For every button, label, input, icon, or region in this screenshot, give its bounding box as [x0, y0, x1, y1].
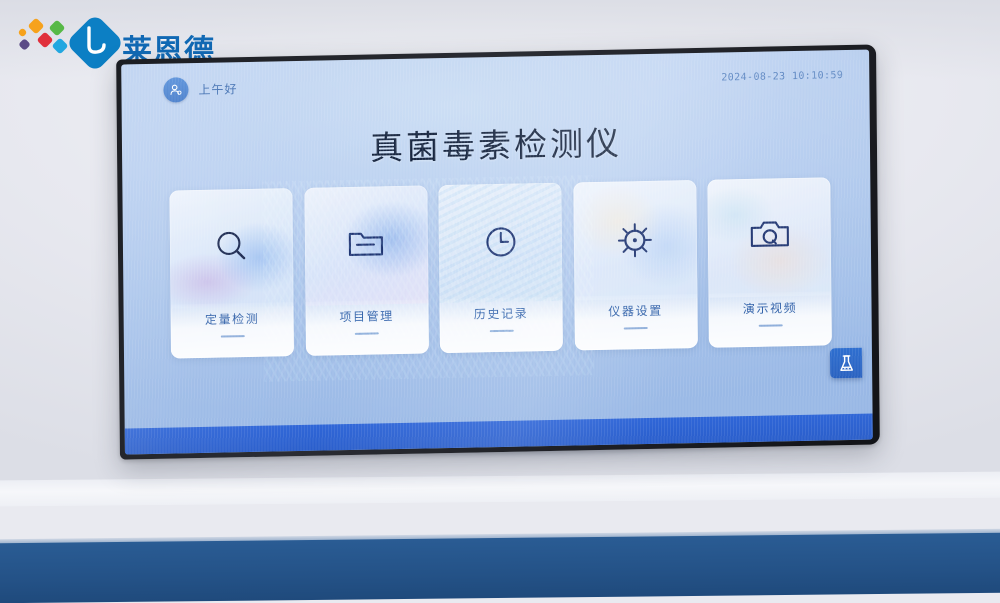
lhd-diamond-logo-icon: [68, 16, 122, 70]
magnifier-icon: [170, 226, 293, 268]
menu-card-grid: 定量检测 项目管理: [169, 177, 831, 358]
greeting-text: 上午好: [198, 80, 237, 98]
screen-display: 上午好 2024-08-23 10:10:59 真菌毒素检测仪 定量检测: [121, 50, 873, 455]
counter-surface: [0, 533, 1000, 603]
camera-icon: [708, 215, 831, 253]
card-label: 项目管理: [305, 306, 428, 325]
magnifier-glyph: [211, 227, 251, 268]
gear-icon: [573, 218, 696, 262]
menu-card-project-management[interactable]: 项目管理: [304, 185, 429, 355]
logo-dot-amber-small: [18, 28, 28, 38]
monitor: 上午好 2024-08-23 10:10:59 真菌毒素检测仪 定量检测: [116, 44, 880, 459]
folder-glyph: [345, 224, 387, 263]
logo-stroke-glyph: [85, 26, 107, 56]
greeting-group: 上午好: [163, 76, 237, 102]
datetime-display: 2024-08-23 10:10:59: [721, 70, 843, 83]
user-avatar-icon[interactable]: [163, 77, 188, 103]
card-label: 定量检测: [171, 309, 294, 328]
logo-dot-purple: [18, 38, 31, 51]
menu-card-demo-video[interactable]: 演示视频: [707, 177, 832, 347]
menu-card-instrument-settings[interactable]: 仪器设置: [573, 180, 698, 350]
logo-dot-red: [37, 32, 54, 49]
menu-card-history-records[interactable]: 历史记录: [438, 183, 563, 353]
logo-dot-cyan: [52, 38, 69, 55]
card-label: 仪器设置: [574, 301, 697, 320]
monitor-bezel: 上午好 2024-08-23 10:10:59 真菌毒素检测仪 定量检测: [116, 44, 880, 459]
user-avatar-glyph: [168, 82, 183, 97]
camera-glyph: [747, 216, 791, 253]
card-label: 历史记录: [440, 304, 563, 323]
status-bar: 上午好 2024-08-23 10:10:59: [121, 50, 869, 105]
logo-dot-green: [49, 20, 66, 37]
flask-icon: [837, 353, 854, 372]
folder-icon: [304, 223, 427, 263]
clock-icon: [439, 221, 562, 263]
page-title: 真菌毒素检测仪: [122, 112, 870, 175]
flask-shortcut-button[interactable]: [830, 348, 862, 379]
gear-glyph: [614, 219, 656, 262]
card-label: 演示视频: [708, 298, 831, 317]
logo-dot-orange: [28, 18, 45, 35]
menu-card-quantitative-detection[interactable]: 定量检测: [169, 188, 294, 358]
clock-glyph: [480, 222, 520, 263]
